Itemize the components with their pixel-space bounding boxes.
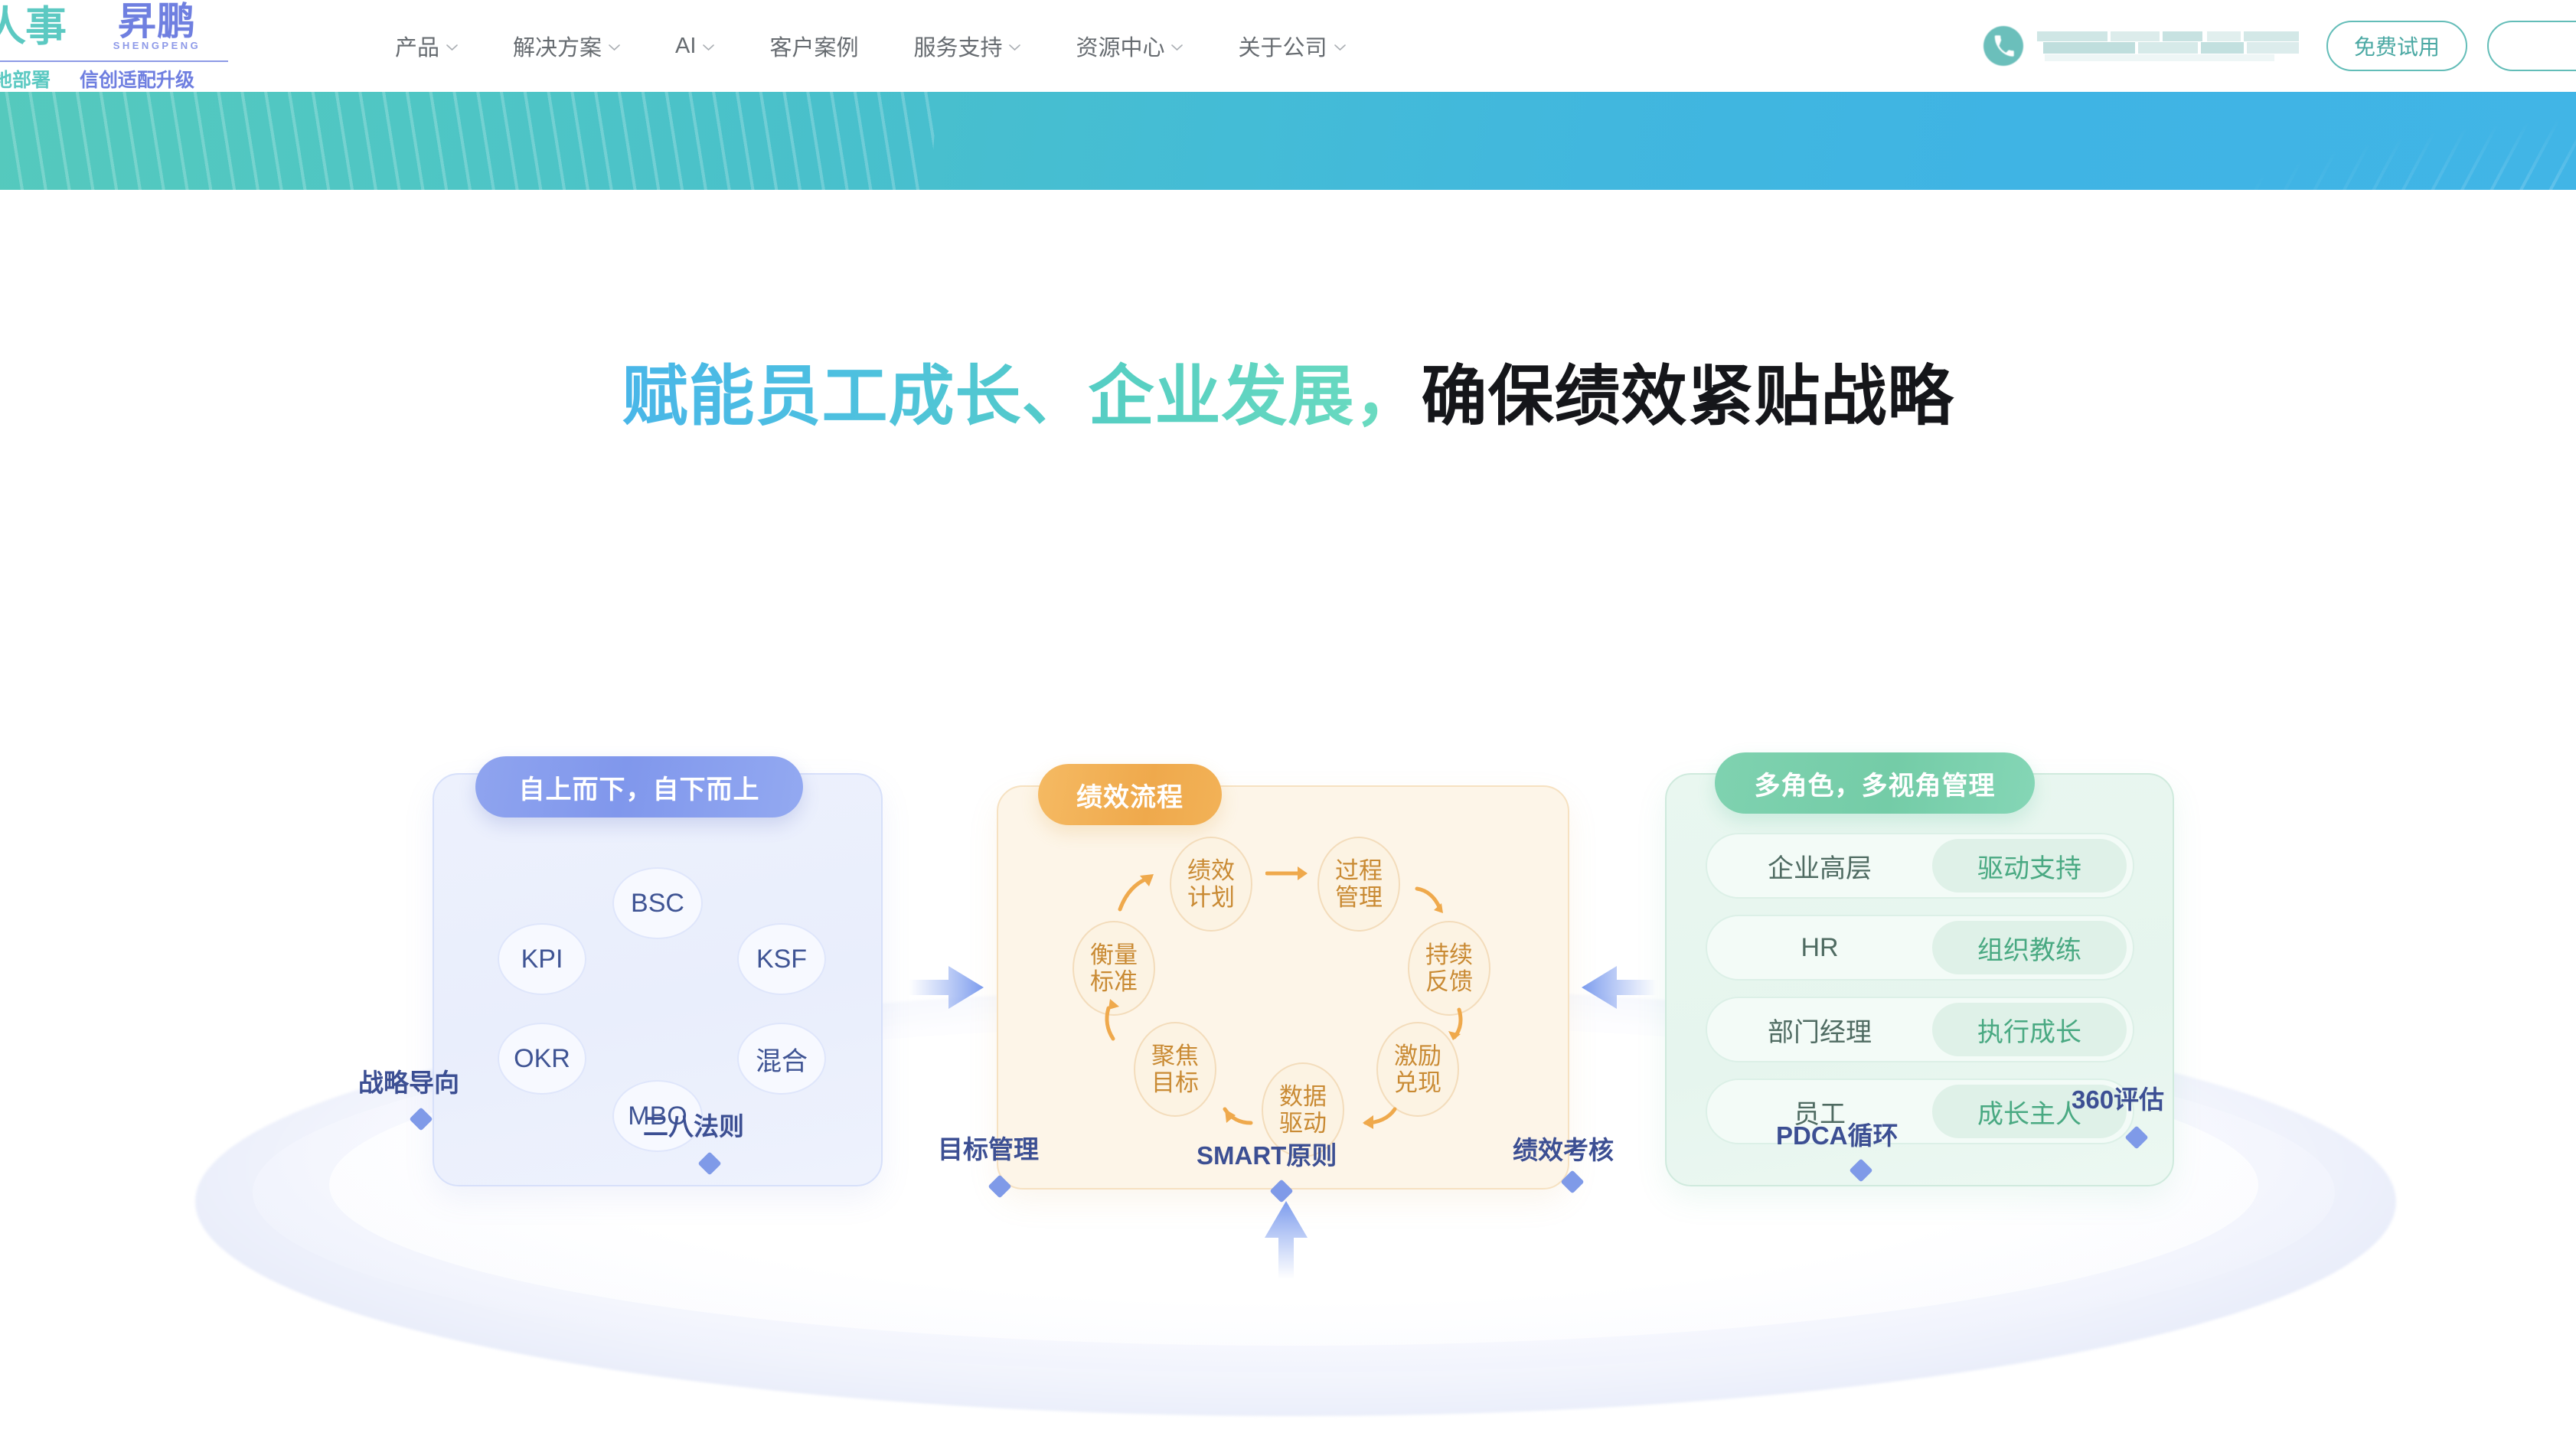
nav-item-label: 客户案例 [769, 30, 858, 62]
logo-shengpeng-cn: 昇鹏 [100, 0, 214, 43]
role-tag-manager: 执行成长 [1932, 1003, 2127, 1056]
nav-item-label: 服务支持 [913, 30, 1002, 62]
cycle-arrow-feedback-to-reward-icon [1439, 1005, 1477, 1049]
cycle-node-reward-line2: 兑现 [1394, 1069, 1441, 1096]
logo-row: i人事 昇鹏 SHENGPENG [0, 2, 280, 61]
logo-block[interactable]: i人事 昇鹏 SHENGPENG 本地部署 信创适配升级 [0, 2, 280, 92]
nav-item-3[interactable]: 客户案例 [742, 0, 886, 92]
cycle-node-focus-line2: 目标 [1151, 1069, 1199, 1096]
cycle-node-plan-line2: 计划 [1187, 884, 1235, 911]
cycle-arrow-reward-to-data-icon [1353, 1103, 1401, 1137]
logo-subtitle-left: 本地部署 [0, 65, 51, 93]
cycle-node-process-line2: 管理 [1335, 884, 1383, 911]
role-name-hr: HR [1707, 933, 1932, 963]
nav-item-label: 关于公司 [1238, 30, 1327, 62]
cycle-node-reward-line1: 激励 [1394, 1043, 1441, 1069]
cycle-node-process[interactable]: 过程 管理 [1317, 837, 1400, 932]
header-actions: 免费试用 [1983, 0, 2576, 92]
logo-subtitle-right: 信创适配升级 [80, 65, 194, 93]
bottom-label-360: 360评估 [2072, 1079, 2164, 1116]
cycle-node-measure-line1: 衡量 [1090, 942, 1138, 968]
site-header: i人事 昇鹏 SHENGPENG 本地部署 信创适配升级 产品解决方案AI客户案… [0, 0, 2576, 92]
banner-rays-left [0, 92, 937, 190]
free-trial-button[interactable]: 免费试用 [2326, 21, 2467, 71]
chevron-down-icon [1171, 44, 1183, 51]
phone-block[interactable] [1983, 26, 2307, 66]
logo-shengpeng: 昇鹏 SHENGPENG [100, 0, 214, 51]
connector-arrow-right-icon [907, 955, 987, 1020]
cycle-arrow-plan-to-process-icon [1265, 863, 1311, 883]
connector-arrow-up-icon [1254, 1196, 1318, 1281]
nav-item-label: 资源中心 [1076, 30, 1164, 62]
nav-item-0[interactable]: 产品 [367, 0, 485, 92]
bubble-kpi[interactable]: KPI [498, 923, 586, 995]
secondary-action-button[interactable] [2487, 21, 2576, 71]
nav-item-label: AI [675, 34, 696, 59]
nav-item-5[interactable]: 资源中心 [1048, 0, 1210, 92]
cycle-node-plan[interactable]: 绩效 计划 [1170, 837, 1252, 932]
card-roles-badge: 多角色，多视角管理 [1715, 752, 2035, 814]
bubble-okr[interactable]: OKR [498, 1023, 586, 1095]
chevron-down-icon [1009, 44, 1020, 51]
bottom-label-appraisal: 绩效考核 [1513, 1130, 1614, 1167]
cycle-node-feedback[interactable]: 持续 反馈 [1408, 921, 1490, 1016]
connector-arrow-left-icon [1579, 955, 1658, 1020]
phone-icon [1983, 26, 2023, 66]
chevron-down-icon [703, 44, 714, 51]
logo-shengpeng-en: SHENGPENG [100, 40, 214, 51]
role-row-hr[interactable]: HR 组织教练 [1706, 915, 2134, 981]
role-row-manager[interactable]: 部门经理 执行成长 [1706, 997, 2134, 1062]
banner-rays-right [1948, 92, 2576, 190]
nav-item-label: 解决方案 [513, 30, 602, 62]
role-row-executive[interactable]: 企业高层 驱动支持 [1706, 833, 2134, 899]
role-name-executive: 企业高层 [1707, 847, 1932, 885]
cycle-node-measure-line2: 标准 [1090, 968, 1138, 995]
cycle-node-data-line2: 驱动 [1279, 1110, 1327, 1137]
role-tag-executive: 驱动支持 [1932, 839, 2127, 893]
gradient-banner [0, 92, 2576, 190]
cycle-node-process-line1: 过程 [1335, 857, 1383, 884]
cycle-arrow-measure-to-plan-icon [1114, 871, 1160, 915]
role-tag-hr: 组织教练 [1932, 921, 2127, 974]
chevron-down-icon [1334, 44, 1346, 51]
bottom-label-mbo: 目标管理 [938, 1129, 1039, 1166]
cycle-node-focus[interactable]: 聚焦 目标 [1134, 1022, 1216, 1117]
nav-item-1[interactable]: 解决方案 [485, 0, 648, 92]
cycle-node-focus-line1: 聚焦 [1151, 1043, 1199, 1069]
bubble-bsc[interactable]: BSC [612, 867, 703, 939]
role-row-employee[interactable]: 员工 成长主人 [1706, 1079, 2134, 1144]
card-performance-process-badge: 绩效流程 [1038, 764, 1222, 825]
bottom-label-smart: SMART原则 [1197, 1135, 1337, 1172]
phone-number-redacted [2037, 28, 2307, 64]
page-root: i人事 昇鹏 SHENGPENG 本地部署 信创适配升级 产品解决方案AI客户案… [0, 0, 2576, 1449]
bottom-label-pdca: PDCA循环 [1776, 1115, 1899, 1152]
cycle-node-plan-line1: 绩效 [1187, 857, 1235, 884]
card-methodology-badge: 自上而下，自下而上 [475, 756, 803, 818]
chevron-down-icon [446, 44, 458, 51]
main-navigation: 产品解决方案AI客户案例服务支持资源中心关于公司 [367, 0, 1373, 92]
nav-item-2[interactable]: AI [648, 0, 742, 92]
illustration-stage: 自上而下，自下而上 BSC KPI KSF OKR 混合 MBO 绩效流程 绩效… [0, 190, 2576, 1449]
bottom-label-pareto: 二八法则 [643, 1106, 744, 1143]
cycle-node-feedback-line2: 反馈 [1425, 968, 1473, 995]
bubble-mixed[interactable]: 混合 [737, 1023, 826, 1095]
cycle-node-feedback-line1: 持续 [1425, 942, 1473, 968]
cycle-arrow-data-to-focus-icon [1208, 1103, 1255, 1137]
nav-item-label: 产品 [395, 30, 439, 62]
nav-item-4[interactable]: 服务支持 [886, 0, 1048, 92]
cycle-arrow-process-to-feedback-icon [1412, 883, 1455, 925]
chevron-down-icon [609, 44, 620, 51]
logo-divider [0, 60, 228, 62]
bottom-label-strategy: 战略导向 [358, 1062, 459, 1099]
cycle-node-data-line1: 数据 [1279, 1083, 1327, 1110]
role-name-manager: 部门经理 [1707, 1011, 1932, 1049]
logo-ihr-text: i人事 [0, 3, 66, 51]
logo-subtitle: 本地部署 信创适配升级 [0, 66, 250, 92]
nav-item-6[interactable]: 关于公司 [1210, 0, 1373, 92]
cycle-arrow-focus-to-measure-icon [1095, 997, 1133, 1045]
bubble-ksf[interactable]: KSF [737, 923, 826, 995]
